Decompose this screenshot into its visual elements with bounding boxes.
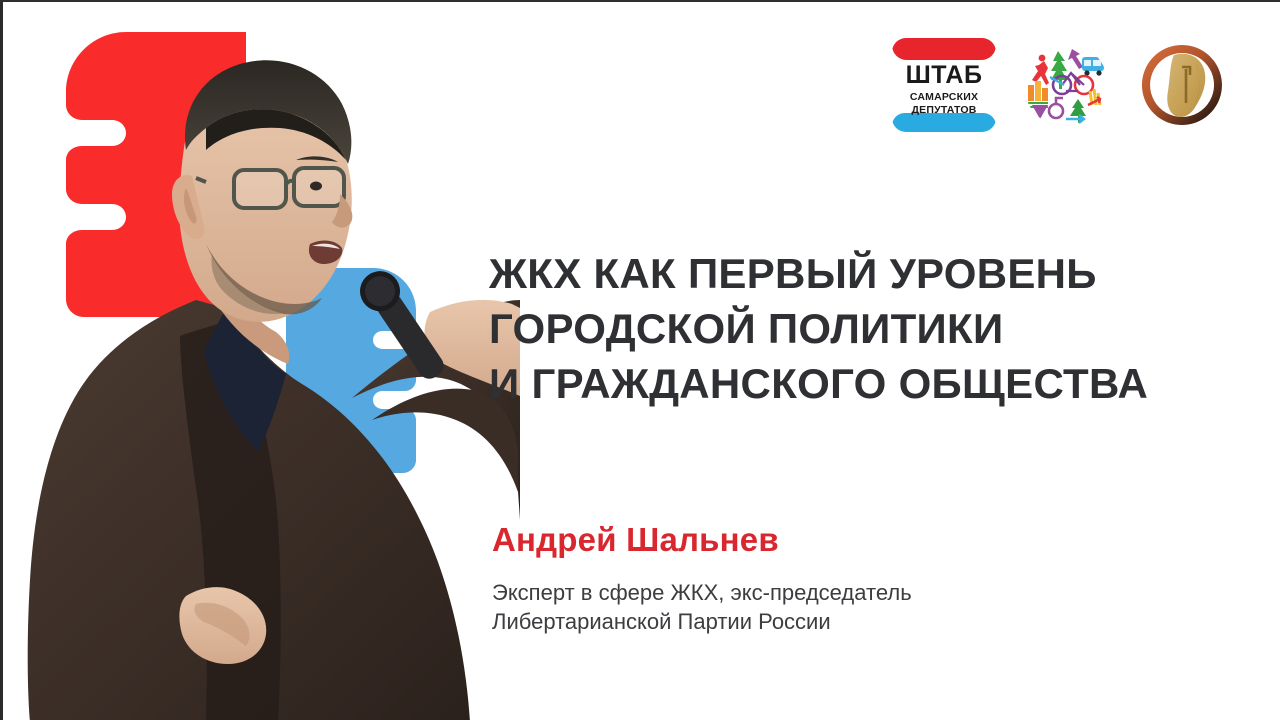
- shtab-wordmark: ШТАБ: [906, 63, 983, 88]
- title-line-3: И ГРАЖДАНСКОГО ОБЩЕСТВА: [489, 356, 1229, 411]
- partner-logo-strip: ШТАБ САМАРСКИХ ДЕПУТАТОВ: [892, 38, 1228, 132]
- shtab-top-arc: [892, 38, 996, 60]
- shtab-subline-2: ДЕПУТАТОВ: [911, 104, 976, 116]
- speaker-role-line-2: Либертарианской Партии России: [492, 607, 1192, 636]
- title-line-2: ГОРОДСКОЙ ПОЛИТИКИ: [489, 301, 1229, 356]
- colorful-city-circle-icon: [1022, 41, 1110, 129]
- title-card-slide: ШТАБ САМАРСКИХ ДЕПУТАТОВ: [0, 0, 1280, 720]
- speaker-portrait: [0, 0, 520, 720]
- shtab-subline-1: САМАРСКИХ: [910, 91, 978, 103]
- speaker-role-line-1: Эксперт в сфере ЖКХ, экс-председатель: [492, 578, 1192, 607]
- title-line-1: ЖКХ КАК ПЕРВЫЙ УРОВЕНЬ: [489, 246, 1229, 301]
- speaker-role: Эксперт в сфере ЖКХ, экс-председатель Ли…: [492, 578, 1192, 636]
- top-letterbox-edge: [0, 0, 1280, 2]
- gold-black-circle-icon: [1136, 39, 1228, 131]
- page-title: ЖКХ КАК ПЕРВЫЙ УРОВЕНЬ ГОРОДСКОЙ ПОЛИТИК…: [489, 246, 1229, 411]
- left-letterbox-edge: [0, 0, 3, 720]
- speaker-info: Андрей Шальнев Эксперт в сфере ЖКХ, экс-…: [492, 521, 1192, 636]
- speaker-name: Андрей Шальнев: [492, 521, 1192, 559]
- logo-shtab-samarskih-deputatov: ШТАБ САМАРСКИХ ДЕПУТАТОВ: [892, 38, 996, 132]
